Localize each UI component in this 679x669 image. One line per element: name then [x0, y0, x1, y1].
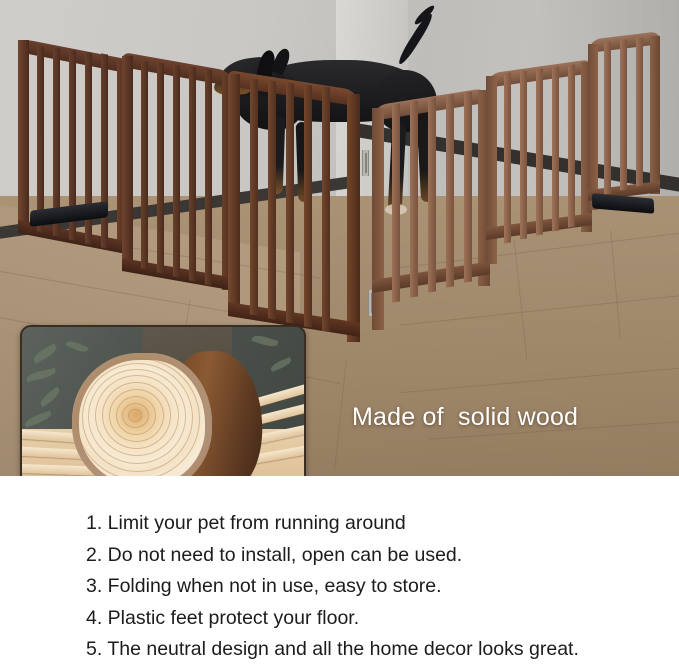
hinge-upper: [362, 150, 369, 176]
gate-panel-4: [372, 84, 490, 334]
log-growth-rings-face: [72, 353, 212, 476]
feature-item-2: 2. Do not need to install, open can be u…: [86, 540, 676, 572]
gate-panel-3: [228, 70, 360, 342]
log-cross-section: [72, 349, 262, 476]
feature-item-3: 3. Folding when not in use, easy to stor…: [86, 571, 676, 603]
feature-list: 1. Limit your pet from running around 2.…: [86, 508, 676, 666]
feature-item-1: 1. Limit your pet from running around: [86, 508, 676, 540]
inset-solid-wood-photo: [20, 325, 306, 476]
feature-item-4: 4. Plastic feet protect your floor.: [86, 603, 676, 635]
headline-made-of-solid-wood: Made of solid wood: [352, 403, 578, 432]
feature-item-5: 5. The neutral design and all the home d…: [86, 634, 676, 666]
gate-panel-2: [122, 52, 234, 290]
product-photo: Made of solid wood: [0, 0, 679, 476]
gate-panel-5: [486, 60, 592, 275]
